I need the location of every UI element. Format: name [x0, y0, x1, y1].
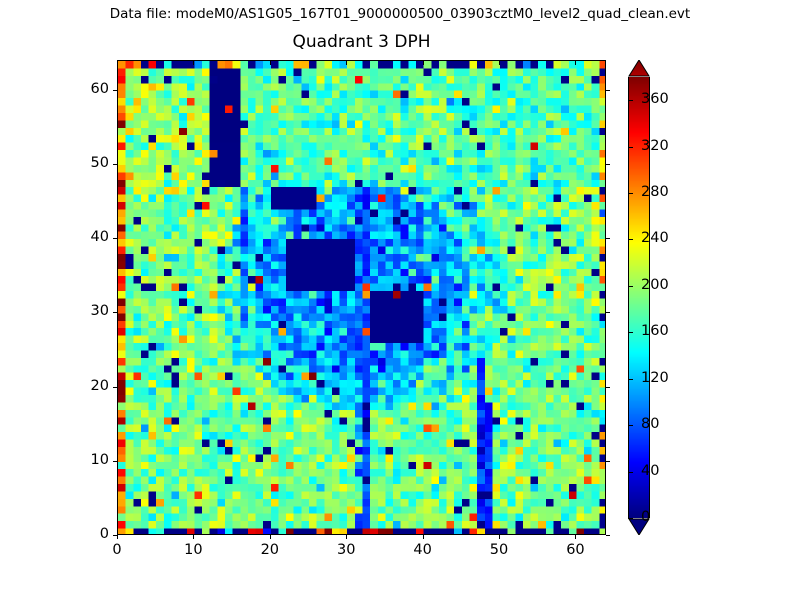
colorbar-tick-label: 280 — [641, 184, 669, 200]
x-tick-mark-top — [346, 61, 347, 65]
x-tick-mark-top — [575, 61, 576, 65]
y-tick-mark-right — [606, 461, 610, 462]
datafile-label: Data file: modeM0/AS1G05_167T01_90000005… — [0, 6, 800, 22]
colorbar-tick-label: 320 — [641, 138, 669, 154]
y-tick-mark-right — [606, 164, 610, 165]
page-title: Quadrant 3 DPH — [117, 32, 606, 52]
y-tick-label: 50 — [63, 155, 109, 171]
x-tick-mark — [117, 535, 118, 539]
colorbar-tick-mark — [628, 193, 633, 194]
colorbar-tick-mark — [628, 239, 633, 240]
colorbar-tick-label: 120 — [641, 370, 669, 386]
y-tick-mark — [113, 535, 117, 536]
y-tick-mark-right — [606, 535, 610, 536]
x-tick-mark — [193, 535, 194, 539]
heatmap-axes[interactable] — [117, 60, 606, 535]
colorbar-tick-label: 360 — [641, 91, 669, 107]
x-tick-mark-top — [270, 61, 271, 65]
y-tick-mark — [113, 90, 117, 91]
x-tick-mark — [270, 535, 271, 539]
x-tick-label: 10 — [171, 542, 215, 558]
colorbar-tick-label: 200 — [641, 277, 669, 293]
y-tick-mark — [113, 312, 117, 313]
figure-canvas: Data file: modeM0/AS1G05_167T01_90000005… — [0, 0, 800, 600]
colorbar-tick-mark — [628, 100, 633, 101]
colorbar-tick-label: 40 — [641, 463, 659, 479]
colorbar-tick-mark — [628, 472, 633, 473]
colorbar-tick-mark — [628, 286, 633, 287]
y-tick-mark — [113, 461, 117, 462]
x-tick-mark-top — [117, 61, 118, 65]
y-tick-mark-right — [606, 387, 610, 388]
y-tick-mark-right — [606, 90, 610, 91]
x-tick-label: 60 — [553, 542, 597, 558]
x-tick-mark-top — [499, 61, 500, 65]
y-tick-mark-right — [606, 312, 610, 313]
colorbar-tick-label: 240 — [641, 230, 669, 246]
colorbar-tick-mark — [628, 425, 633, 426]
x-tick-label: 0 — [95, 542, 139, 558]
x-tick-mark-top — [423, 61, 424, 65]
x-tick-label: 50 — [477, 542, 521, 558]
y-tick-mark — [113, 164, 117, 165]
x-tick-mark — [575, 535, 576, 539]
x-tick-mark — [346, 535, 347, 539]
colorbar-extend-max-arrow-icon — [628, 60, 650, 77]
y-tick-label: 40 — [63, 229, 109, 245]
x-tick-mark — [499, 535, 500, 539]
y-tick-label: 10 — [63, 452, 109, 468]
y-tick-label: 0 — [63, 526, 109, 542]
colorbar-tick-mark — [628, 379, 633, 380]
heatmap-image[interactable] — [118, 61, 606, 535]
colorbar-tick-label: 80 — [641, 416, 659, 432]
y-tick-label: 20 — [63, 378, 109, 394]
colorbar-tick-mark — [628, 332, 633, 333]
y-tick-label: 60 — [63, 81, 109, 97]
y-tick-mark — [113, 238, 117, 239]
colorbar-tick-mark — [628, 147, 633, 148]
y-tick-mark — [113, 387, 117, 388]
colorbar-tick-mark — [628, 518, 633, 519]
x-tick-label: 30 — [324, 542, 368, 558]
x-tick-label: 40 — [401, 542, 445, 558]
x-tick-mark — [423, 535, 424, 539]
y-tick-label: 30 — [63, 303, 109, 319]
y-tick-mark-right — [606, 238, 610, 239]
x-tick-label: 20 — [248, 542, 292, 558]
x-tick-mark-top — [193, 61, 194, 65]
colorbar-tick-label: 0 — [641, 509, 650, 525]
colorbar-tick-label: 160 — [641, 323, 669, 339]
